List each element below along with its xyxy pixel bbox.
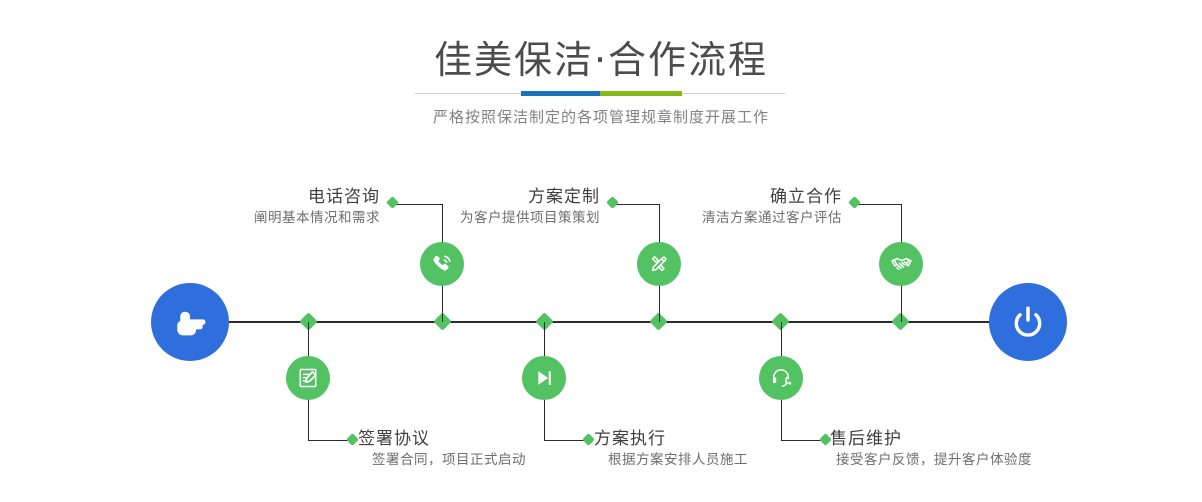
- step-title-1: 电话咨询: [128, 186, 380, 208]
- step-label-5: 确立合作 清洁方案通过客户评估: [590, 186, 842, 228]
- step-label-6: 售后维护 接受客户反馈，提升客户体验度: [830, 428, 1110, 470]
- headset-support-icon: [768, 365, 794, 391]
- step-desc-6: 接受客户反馈，提升客户体验度: [830, 450, 1110, 470]
- step-node-2[interactable]: [286, 356, 330, 400]
- step-label-2: 签署协议 签署合同，项目正式启动: [358, 428, 618, 470]
- step-desc-2: 签署合同，项目正式启动: [358, 450, 618, 470]
- step-node-1[interactable]: [420, 242, 464, 286]
- connector-arm-5: [856, 204, 901, 205]
- step-title-3: 方案定制: [348, 186, 600, 208]
- step-title-6: 售后维护: [830, 428, 1110, 450]
- step-label-1: 电话咨询 阐明基本情况和需求: [128, 186, 380, 228]
- step-label-3: 方案定制 为客户提供项目策策划: [348, 186, 600, 228]
- step-title-2: 签署协议: [358, 428, 618, 450]
- step-desc-1: 阐明基本情况和需求: [128, 208, 380, 228]
- step-desc-4: 根据方案安排人员施工: [594, 450, 854, 470]
- divider-accent-green: [600, 91, 682, 96]
- divider-accent-blue: [521, 91, 600, 96]
- timeline-end-badge: [989, 283, 1067, 361]
- label-marker-5: [848, 196, 861, 209]
- handshake-icon: [888, 251, 915, 278]
- play-execute-icon: [531, 365, 557, 391]
- step-desc-5: 清洁方案通过客户评估: [590, 208, 842, 228]
- power-icon: [1006, 300, 1050, 344]
- step-node-3[interactable]: [637, 242, 681, 286]
- phone-call-icon: [429, 251, 455, 277]
- page-subtitle: 严格按照保洁制定的各项管理规章制度开展工作: [0, 106, 1202, 128]
- flow-diagram: 佳美保洁·合作流程 严格按照保洁制定的各项管理规章制度开展工作: [0, 0, 1202, 502]
- step-title-4: 方案执行: [594, 428, 854, 450]
- step-label-4: 方案执行 根据方案安排人员施工: [594, 428, 854, 470]
- step-desc-3: 为客户提供项目策策划: [348, 208, 600, 228]
- pointing-hand-icon: [168, 300, 212, 344]
- page-title: 佳美保洁·合作流程: [0, 38, 1202, 82]
- step-node-4[interactable]: [522, 356, 566, 400]
- pencil-ruler-icon: [646, 251, 672, 277]
- step-title-5: 确立合作: [590, 186, 842, 208]
- step-node-5[interactable]: [879, 242, 923, 286]
- label-marker-2: [346, 433, 359, 446]
- document-edit-icon: [295, 365, 321, 391]
- timeline-start-badge: [151, 283, 229, 361]
- step-node-6[interactable]: [759, 356, 803, 400]
